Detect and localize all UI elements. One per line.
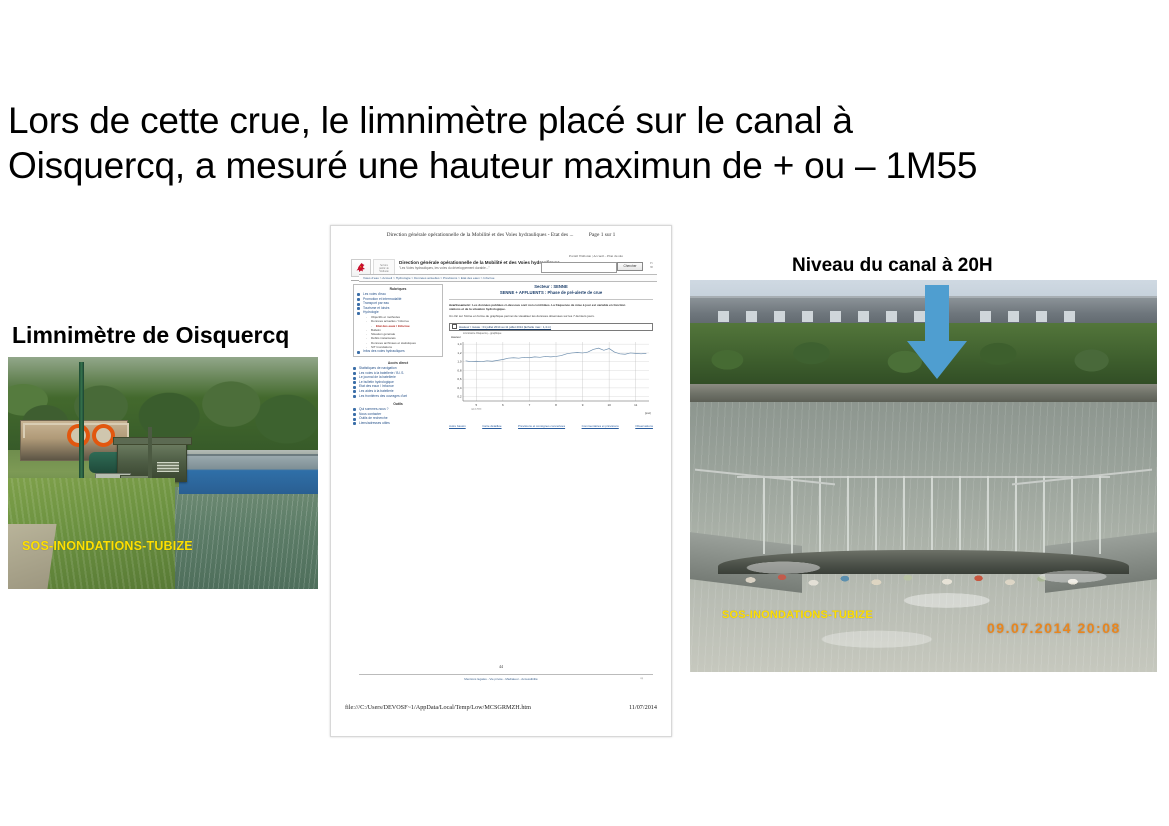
warning-text-2: stations et de la situation hydrologique… [449, 307, 653, 311]
page-number: 44 [331, 664, 671, 669]
printed-webpage-document: Direction générale opérationnelle de la … [330, 225, 672, 737]
svg-text:0,6: 0,6 [457, 377, 462, 381]
down-arrow-icon [905, 285, 969, 380]
print-header-title: Direction générale opérationnelle de la … [387, 232, 574, 238]
turbulent-foam [690, 523, 1157, 672]
svg-text:9: 9 [582, 403, 584, 407]
sidebar-item-infos[interactable]: Infos des voies hydrauliques [357, 349, 439, 354]
life-buoy-2 [92, 424, 115, 447]
print-date: 11/07/2014 [629, 704, 657, 711]
svg-text:5: 5 [475, 403, 477, 407]
blue-barge-hull [179, 454, 319, 493]
print-header-page: Page 1 sur 1 [589, 232, 616, 238]
canal-water [163, 487, 318, 589]
print-header: Direction générale opérationnelle de la … [331, 232, 671, 238]
chart-checkbox[interactable] [452, 324, 457, 329]
sector-alert-phase: SENNE + AFFLUENTS : Phase de pré-alerte … [449, 290, 653, 296]
chart-title-bar[interactable]: Hauteur / niveau : 01 juillet 2014 au 11… [449, 323, 653, 331]
chart-legend: Limnimètre Oisquercq – graphique [463, 332, 653, 335]
svg-text:1,2: 1,2 [457, 351, 462, 355]
search-input[interactable] [541, 262, 617, 273]
cabinet-vent [157, 462, 179, 472]
bottom-link-row: Autre bassin Carte détaillée Prévisions … [449, 424, 653, 428]
link-carte[interactable]: Carte détaillée [482, 424, 501, 428]
chart-svg: 1,41,21,00,80,60,40,2567891011ajout 2014 [449, 339, 653, 411]
site-title: Direction générale opérationnelle de la … [399, 260, 560, 265]
sidebar-heading-outils: Outils [353, 402, 443, 406]
svg-text:0,8: 0,8 [457, 368, 462, 372]
cabinet-lid [113, 437, 191, 445]
sidebar-nav-box: Rubriques Les voies d'eau Promotion et i… [353, 284, 443, 357]
chart-title[interactable]: Hauteur / niveau : 01 juillet 2014 au 11… [459, 325, 551, 329]
camera-timestamp: 09.07.2014 20:08 [987, 620, 1121, 636]
footer-up-link[interactable]: up [640, 677, 643, 680]
sidebar-item-liens[interactable]: Liens/adresses utiles [353, 421, 443, 426]
slide-canvas: Lors de cette crue, le limnimètre placé … [0, 0, 1169, 826]
chart-plot-area: Hauteur 1,41,21,00,80,60,40,2567891011aj… [449, 336, 653, 414]
sidebar-heading-rubriques: Rubriques [357, 287, 439, 291]
link-autre-bassin[interactable]: Autre bassin [449, 424, 466, 428]
chart-intro-text: Un clic sur l'icône en forme de graphiqu… [449, 314, 653, 318]
search-button[interactable]: Chercher [617, 262, 643, 271]
print-file-path: file:///C:/Users/DEVOSF~1/AppData/Local/… [345, 704, 531, 711]
left-photo-watermark: SOS-INONDATIONS-TUBIZE [22, 539, 193, 553]
svg-text:ajout 2014: ajout 2014 [471, 407, 482, 410]
page-title-line-1: Lors de cette crue, le limnimètre placé … [8, 98, 1163, 143]
sidebar-heading-acces-direct: Accès direct [353, 361, 443, 365]
warning-notice: Avertissement : Les données publiées ci-… [449, 303, 653, 311]
svg-text:0,2: 0,2 [457, 394, 462, 398]
svg-text:11: 11 [634, 403, 637, 407]
svg-text:7: 7 [529, 403, 531, 407]
link-previsions[interactable]: Prévisions et consignes concertées [518, 424, 565, 428]
chart-x-axis-label: (jour) [645, 412, 651, 415]
footer-divider [359, 674, 653, 675]
site-tagline: "Les Voies hydrauliques, les voies du dé… [399, 266, 490, 270]
svg-text:1,0: 1,0 [457, 359, 462, 363]
portal-links[interactable]: Portail Wallonie | Accueil – Plan du sit… [569, 254, 623, 258]
right-photo-caption: Niveau du canal à 20H [792, 255, 993, 277]
svg-text:6: 6 [502, 403, 504, 407]
sidebar-item-frontieres[interactable]: Les frontières des ouvrages d'art [353, 394, 443, 399]
svg-text:10: 10 [607, 403, 611, 407]
language-switch[interactable]: FrNl [650, 262, 653, 270]
right-photo-watermark: SOS-INONDATIONS-TUBIZE [722, 609, 873, 621]
document-main-column: Secteur : SENNE SENNE + AFFLUENTS : Phas… [449, 284, 653, 414]
svg-text:8: 8 [555, 403, 557, 407]
sidebar-nav: Rubriques Les voies d'eau Promotion et i… [353, 284, 443, 425]
divider [449, 299, 653, 300]
link-commentaires[interactable]: Commentaires et prévisions [582, 424, 619, 428]
photo-limnimetre-oisquercq [8, 357, 318, 589]
breadcrumb[interactable]: Voies d'eau > Accueil > Hydrologie > Don… [359, 274, 657, 282]
left-photo-caption: Limnimètre de Oisquercq [12, 322, 289, 349]
svg-text:0,4: 0,4 [457, 385, 462, 389]
page-title-line-2: Oisquercq, a mesuré une hauteur maximun … [8, 143, 1163, 188]
footer-links[interactable]: Mentions légales - Vie privée - Médiateu… [331, 677, 671, 681]
page-title: Lors de cette crue, le limnimètre placé … [8, 98, 1163, 188]
hydrograph-chart: Hauteur / niveau : 01 juillet 2014 au 11… [449, 323, 653, 414]
svg-text:1,4: 1,4 [457, 342, 462, 346]
link-observations[interactable]: Observations [635, 424, 653, 428]
